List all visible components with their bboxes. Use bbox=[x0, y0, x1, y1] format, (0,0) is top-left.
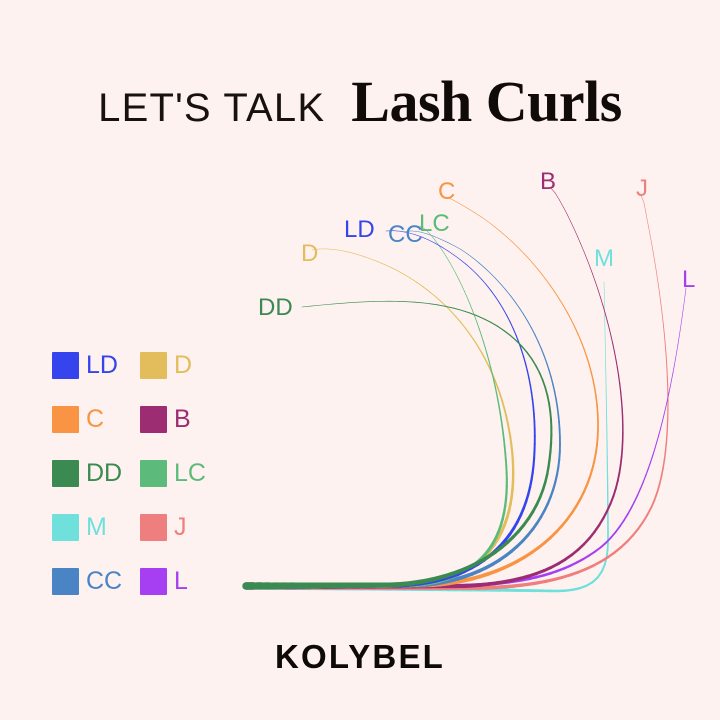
legend-item-d[interactable]: D bbox=[140, 350, 228, 380]
legend-item-cc[interactable]: CC bbox=[52, 566, 140, 596]
lash-curve-l bbox=[246, 288, 686, 586]
legend-swatch-d bbox=[140, 352, 167, 379]
lash-curve-dd bbox=[246, 301, 551, 586]
legend-label-j: J bbox=[174, 515, 187, 540]
legend-label-ld: LD bbox=[86, 353, 118, 378]
legend-label-lc: LC bbox=[174, 461, 206, 486]
lash-curve-cc bbox=[246, 231, 560, 586]
legend-label-cc: CC bbox=[86, 569, 122, 594]
curve-label-b: B bbox=[540, 170, 556, 194]
curl-legend: LDDCBDDLCMJCCL bbox=[52, 338, 228, 608]
legend-item-ld[interactable]: LD bbox=[52, 350, 140, 380]
legend-swatch-dd bbox=[52, 460, 79, 487]
curve-label-dd: DD bbox=[258, 296, 293, 320]
legend-swatch-ld bbox=[52, 352, 79, 379]
legend-swatch-m bbox=[52, 514, 79, 541]
curve-label-l: L bbox=[682, 268, 695, 292]
legend-label-d: D bbox=[174, 353, 192, 378]
curve-label-lc: LC bbox=[419, 212, 450, 236]
poster-canvas: LET'S TALKLash Curls DDLDLCDCCCLBJM LDDC… bbox=[0, 0, 720, 720]
legend-label-b: B bbox=[174, 407, 191, 432]
legend-item-m[interactable]: M bbox=[52, 512, 140, 542]
curve-label-m: M bbox=[594, 247, 614, 271]
legend-item-dd[interactable]: DD bbox=[52, 458, 140, 488]
legend-label-dd: DD bbox=[86, 461, 122, 486]
legend-item-lc[interactable]: LC bbox=[140, 458, 228, 488]
curve-label-ld: LD bbox=[344, 218, 375, 242]
curve-label-cc: CC bbox=[388, 223, 423, 247]
legend-swatch-j bbox=[140, 514, 167, 541]
curve-label-j: J bbox=[636, 177, 648, 201]
brand-wordmark: KOLYBEL bbox=[0, 638, 720, 676]
lash-curve-c bbox=[246, 197, 598, 586]
lash-curve-lc bbox=[246, 226, 507, 586]
legend-item-l[interactable]: L bbox=[140, 566, 228, 596]
legend-label-c: C bbox=[86, 407, 104, 432]
legend-item-c[interactable]: C bbox=[52, 404, 140, 434]
legend-swatch-lc bbox=[140, 460, 167, 487]
legend-swatch-c bbox=[52, 406, 79, 433]
legend-swatch-l bbox=[140, 568, 167, 595]
curve-label-c: C bbox=[438, 180, 455, 204]
curve-label-d: D bbox=[301, 242, 318, 266]
legend-swatch-cc bbox=[52, 568, 79, 595]
legend-label-m: M bbox=[86, 515, 107, 540]
lash-curve-ld bbox=[246, 231, 535, 586]
lash-curve-m bbox=[246, 282, 608, 591]
legend-item-j[interactable]: J bbox=[140, 512, 228, 542]
legend-swatch-b bbox=[140, 406, 167, 433]
legend-item-b[interactable]: B bbox=[140, 404, 228, 434]
legend-label-l: L bbox=[174, 569, 188, 594]
